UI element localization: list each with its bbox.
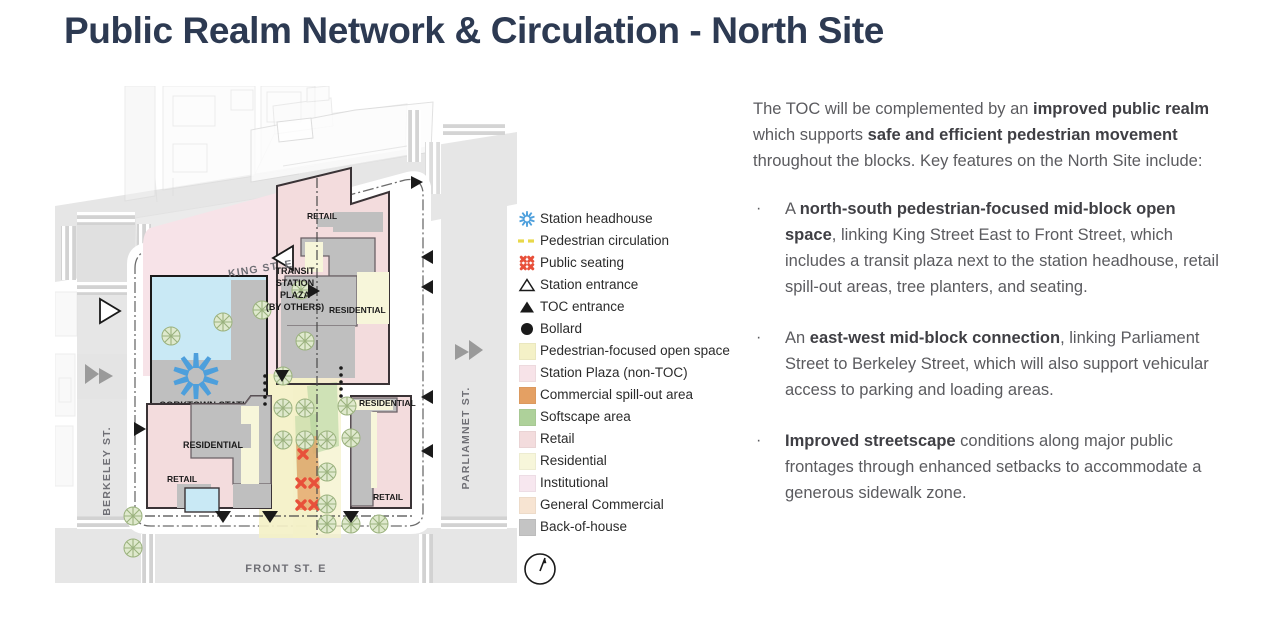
legend-label: Retail (540, 432, 575, 446)
site-plan-svg: CORKTOWN STATION (BY OTHERS) RETAIL RESI… (55, 86, 517, 583)
legend-label: TOC entrance (540, 300, 625, 314)
bullet-marker: · (756, 196, 761, 222)
label-transit-plaza-line3: PLAZA (280, 290, 310, 300)
swatch-back-of-house-icon (514, 516, 540, 538)
label-retail-ne: RETAIL (307, 211, 337, 221)
station-headhouse-icon (514, 208, 540, 230)
feature-bullet-list: ·A north-south pedestrian-focused mid-bl… (753, 196, 1231, 506)
legend-item-commercial-spill-out[interactable]: Commercial spill-out area (514, 384, 754, 406)
legend-label: Pedestrian circulation (540, 234, 669, 248)
street-label-front: FRONT ST. E (245, 563, 327, 575)
intro-bold1: improved public realm (1033, 100, 1209, 118)
swatch-pedestrian-open-space-icon (514, 340, 540, 362)
intro-seg2: which supports (753, 126, 868, 144)
intro-paragraph: The TOC will be complemented by an impro… (753, 96, 1231, 174)
map-legend: Station headhouse Pedestrian circulation (514, 208, 754, 538)
bullet-marker: · (756, 325, 761, 351)
swatch-general-commercial-icon (514, 494, 540, 516)
legend-label: Softscape area (540, 410, 631, 424)
label-transit-plaza-line2: STATION (276, 278, 314, 288)
intro-seg1: The TOC will be complemented by an (753, 100, 1033, 118)
ne-retail-bar (333, 212, 383, 232)
legend-label: Residential (540, 454, 607, 468)
legend-label: General Commercial (540, 498, 664, 512)
sw-institutional-pad (185, 488, 219, 512)
label-transit-plaza-line4: (BY OTHERS) (266, 302, 324, 312)
swatch-institutional-icon (514, 472, 540, 494)
legend-item-public-seating[interactable]: Public seating (514, 252, 754, 274)
bullet-marker: · (756, 428, 761, 454)
label-residential-ne: RESIDENTIAL (329, 305, 386, 315)
se-block: RESIDENTIAL RETAIL (351, 396, 416, 508)
bullet-item-mid-block-connection: ·An east-west mid-block connection, link… (753, 325, 1231, 403)
legend-item-pedestrian-open-space[interactable]: Pedestrian-focused open space (514, 340, 754, 362)
legend-label: Back-of-house (540, 520, 627, 534)
legend-label: Bollard (540, 322, 582, 336)
bullet-seg1: A (785, 200, 800, 218)
legend-item-station-headhouse[interactable]: Station headhouse (514, 208, 754, 230)
legend-item-bollard[interactable]: Bollard (514, 318, 754, 340)
swatch-retail-icon (514, 428, 540, 450)
swatch-commercial-spill-out-icon (514, 384, 540, 406)
street-label-berkeley: BERKELEY ST. (101, 426, 113, 515)
swatch-softscape-icon (514, 406, 540, 428)
station-entrance-icon (514, 274, 540, 296)
legend-label: Station Plaza (non-TOC) (540, 366, 688, 380)
toc-entrance-icon (514, 296, 540, 318)
legend-item-back-of-house[interactable]: Back-of-house (514, 516, 754, 538)
street-label-parliament: PARLIAMNET ST. (460, 387, 472, 490)
legend-item-residential[interactable]: Residential (514, 450, 754, 472)
intro-seg3: throughout the blocks. Key features on t… (753, 152, 1202, 170)
bullet-item-open-space: ·A north-south pedestrian-focused mid-bl… (753, 196, 1231, 300)
pedestrian-circulation-icon (514, 230, 540, 252)
label-retail-se: RETAIL (373, 492, 403, 502)
legend-item-institutional[interactable]: Institutional (514, 472, 754, 494)
swatch-residential-icon (514, 450, 540, 472)
public-seating-icon (514, 252, 540, 274)
legend-label: Institutional (540, 476, 608, 490)
legend-item-station-plaza[interactable]: Station Plaza (non-TOC) (514, 362, 754, 384)
legend-label: Commercial spill-out area (540, 388, 693, 402)
description-column: The TOC will be complemented by an impro… (753, 96, 1231, 531)
label-retail-sw: RETAIL (167, 474, 197, 484)
legend-item-retail[interactable]: Retail (514, 428, 754, 450)
legend-item-general-commercial[interactable]: General Commercial (514, 494, 754, 516)
label-transit-plaza-line1: TRANSIT (276, 266, 315, 276)
label-residential-se: RESIDENTIAL (359, 398, 416, 408)
label-residential-sw: RESIDENTIAL (183, 440, 244, 450)
site-plan-map[interactable]: CORKTOWN STATION (BY OTHERS) RETAIL RESI… (55, 86, 517, 583)
legend-item-pedestrian-circulation[interactable]: Pedestrian circulation (514, 230, 754, 252)
bullet-bold: east-west mid-block connection (810, 329, 1060, 347)
bullet-bold: Improved streetscape (785, 432, 956, 450)
legend-label: Pedestrian-focused open space (540, 344, 730, 358)
legend-item-toc-entrance[interactable]: TOC entrance (514, 296, 754, 318)
legend-label: Station headhouse (540, 212, 653, 226)
legend-item-station-entrance[interactable]: Station entrance (514, 274, 754, 296)
sw-block: RESIDENTIAL RETAIL (147, 396, 271, 512)
legend-label: Station entrance (540, 278, 638, 292)
intro-bold2: safe and efficient pedestrian movement (868, 126, 1178, 144)
bollard-icon (514, 318, 540, 340)
bullet-seg2: , linking King Street East to Front Stre… (785, 226, 1219, 296)
bullet-seg1: An (785, 329, 810, 347)
page-title: Public Realm Network & Circulation - Nor… (64, 10, 884, 52)
slide-root: Public Realm Network & Circulation - Nor… (0, 0, 1280, 628)
legend-label: Public seating (540, 256, 624, 270)
swatch-station-plaza-icon (514, 362, 540, 384)
bullet-item-streetscape: ·Improved streetscape conditions along m… (753, 428, 1231, 506)
north-arrow-icon (522, 551, 558, 587)
legend-item-softscape[interactable]: Softscape area (514, 406, 754, 428)
